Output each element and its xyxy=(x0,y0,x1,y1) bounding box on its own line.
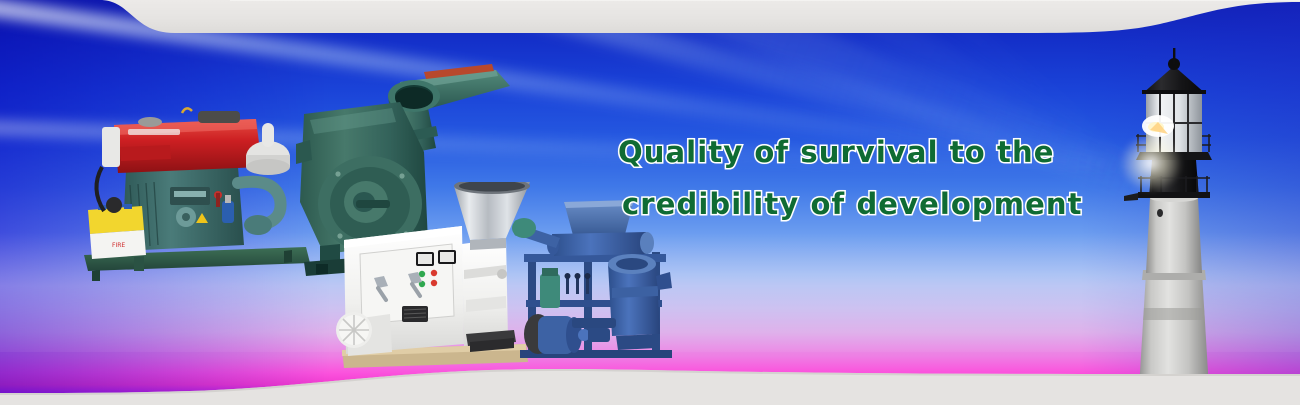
lamp-glow-icon xyxy=(1120,134,1182,192)
lighthouse xyxy=(1098,48,1268,405)
feed-extruder xyxy=(512,192,682,367)
promo-banner: FIRE xyxy=(0,0,1300,405)
svg-text:FIRE: FIRE xyxy=(112,242,125,249)
diesel-engine: FIRE xyxy=(78,105,328,290)
pellet-mill xyxy=(330,182,535,377)
